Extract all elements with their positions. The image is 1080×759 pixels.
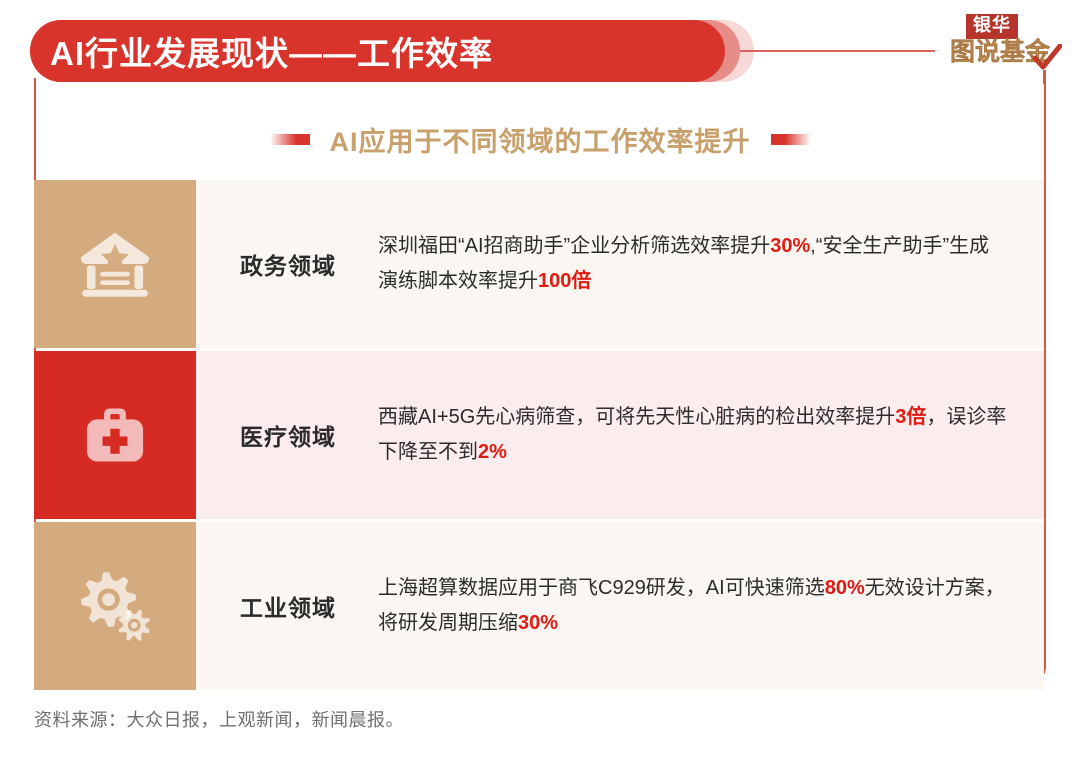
metric-highlight: 100倍 (538, 270, 591, 292)
medical-kit-icon (76, 396, 154, 474)
table-row: 政务领域深圳福田“AI招商助手”企业分析筛选效率提升30%,“安全生产助手”生成… (34, 180, 1044, 348)
row-category-label: 医疗领域 (196, 418, 378, 452)
logo-brand-name: 银华 (966, 14, 1018, 39)
government-building-icon (76, 225, 154, 303)
title-banner: AI行业发展现状——工作效率 (30, 20, 725, 82)
description-text: 上海超算数据应用于商飞C929研发，AI可快速筛选 (378, 577, 825, 599)
header: AI行业发展现状——工作效率 (0, 0, 1080, 100)
subtitle-text: AI应用于不同领域的工作效率提升 (330, 120, 751, 159)
banner-connector-line (740, 50, 935, 52)
row-icon-cell (34, 351, 196, 519)
source-note: 资料来源：大众日报，上观新闻，新闻晨报。 (34, 706, 404, 732)
description-text: 西藏AI+5G先心病筛查，可将先天性心脏病的检出效率提升 (378, 406, 895, 428)
metric-highlight: 30% (770, 235, 810, 257)
subtitle-row: AI应用于不同领域的工作效率提升 (0, 120, 1080, 159)
domain-rows: 政务领域深圳福田“AI招商助手”企业分析筛选效率提升30%,“安全生产助手”生成… (34, 180, 1044, 690)
check-icon (1032, 44, 1062, 74)
metric-highlight: 80% (825, 577, 865, 599)
row-description: 上海超算数据应用于商飞C929研发，AI可快速筛选80%无效设计方案，将研发周期… (378, 571, 1044, 641)
row-icon-cell (34, 522, 196, 690)
page-title: AI行业发展现状——工作效率 (30, 27, 493, 75)
row-category-label: 工业领域 (196, 589, 378, 623)
row-body-cell: 医疗领域西藏AI+5G先心病筛查，可将先天性心脏病的检出效率提升3倍，误诊率下降… (196, 351, 1044, 519)
row-description: 深圳福田“AI招商助手”企业分析筛选效率提升30%,“安全生产助手”生成演练脚本… (378, 229, 1044, 299)
description-text: 深圳福田“AI招商助手”企业分析筛选效率提升 (378, 235, 770, 257)
row-icon-cell (34, 180, 196, 348)
row-body-cell: 政务领域深圳福田“AI招商助手”企业分析筛选效率提升30%,“安全生产助手”生成… (196, 180, 1044, 348)
dash-right-ornament-icon (771, 134, 811, 145)
metric-highlight: 2% (478, 441, 507, 463)
metric-highlight: 3倍 (895, 406, 926, 428)
table-row: 医疗领域西藏AI+5G先心病筛查，可将先天性心脏病的检出效率提升3倍，误诊率下降… (34, 351, 1044, 519)
dash-left-ornament-icon (270, 134, 310, 145)
row-description: 西藏AI+5G先心病筛查，可将先天性心脏病的检出效率提升3倍，误诊率下降至不到2… (378, 400, 1044, 470)
metric-highlight: 30% (518, 612, 558, 634)
row-body-cell: 工业领域上海超算数据应用于商飞C929研发，AI可快速筛选80%无效设计方案，将… (196, 522, 1044, 690)
row-category-label: 政务领域 (196, 247, 378, 281)
frame-top-right-tick (1043, 70, 1046, 84)
gears-icon (75, 566, 155, 646)
table-row: 工业领域上海超算数据应用于商飞C929研发，AI可快速筛选80%无效设计方案，将… (34, 522, 1044, 690)
